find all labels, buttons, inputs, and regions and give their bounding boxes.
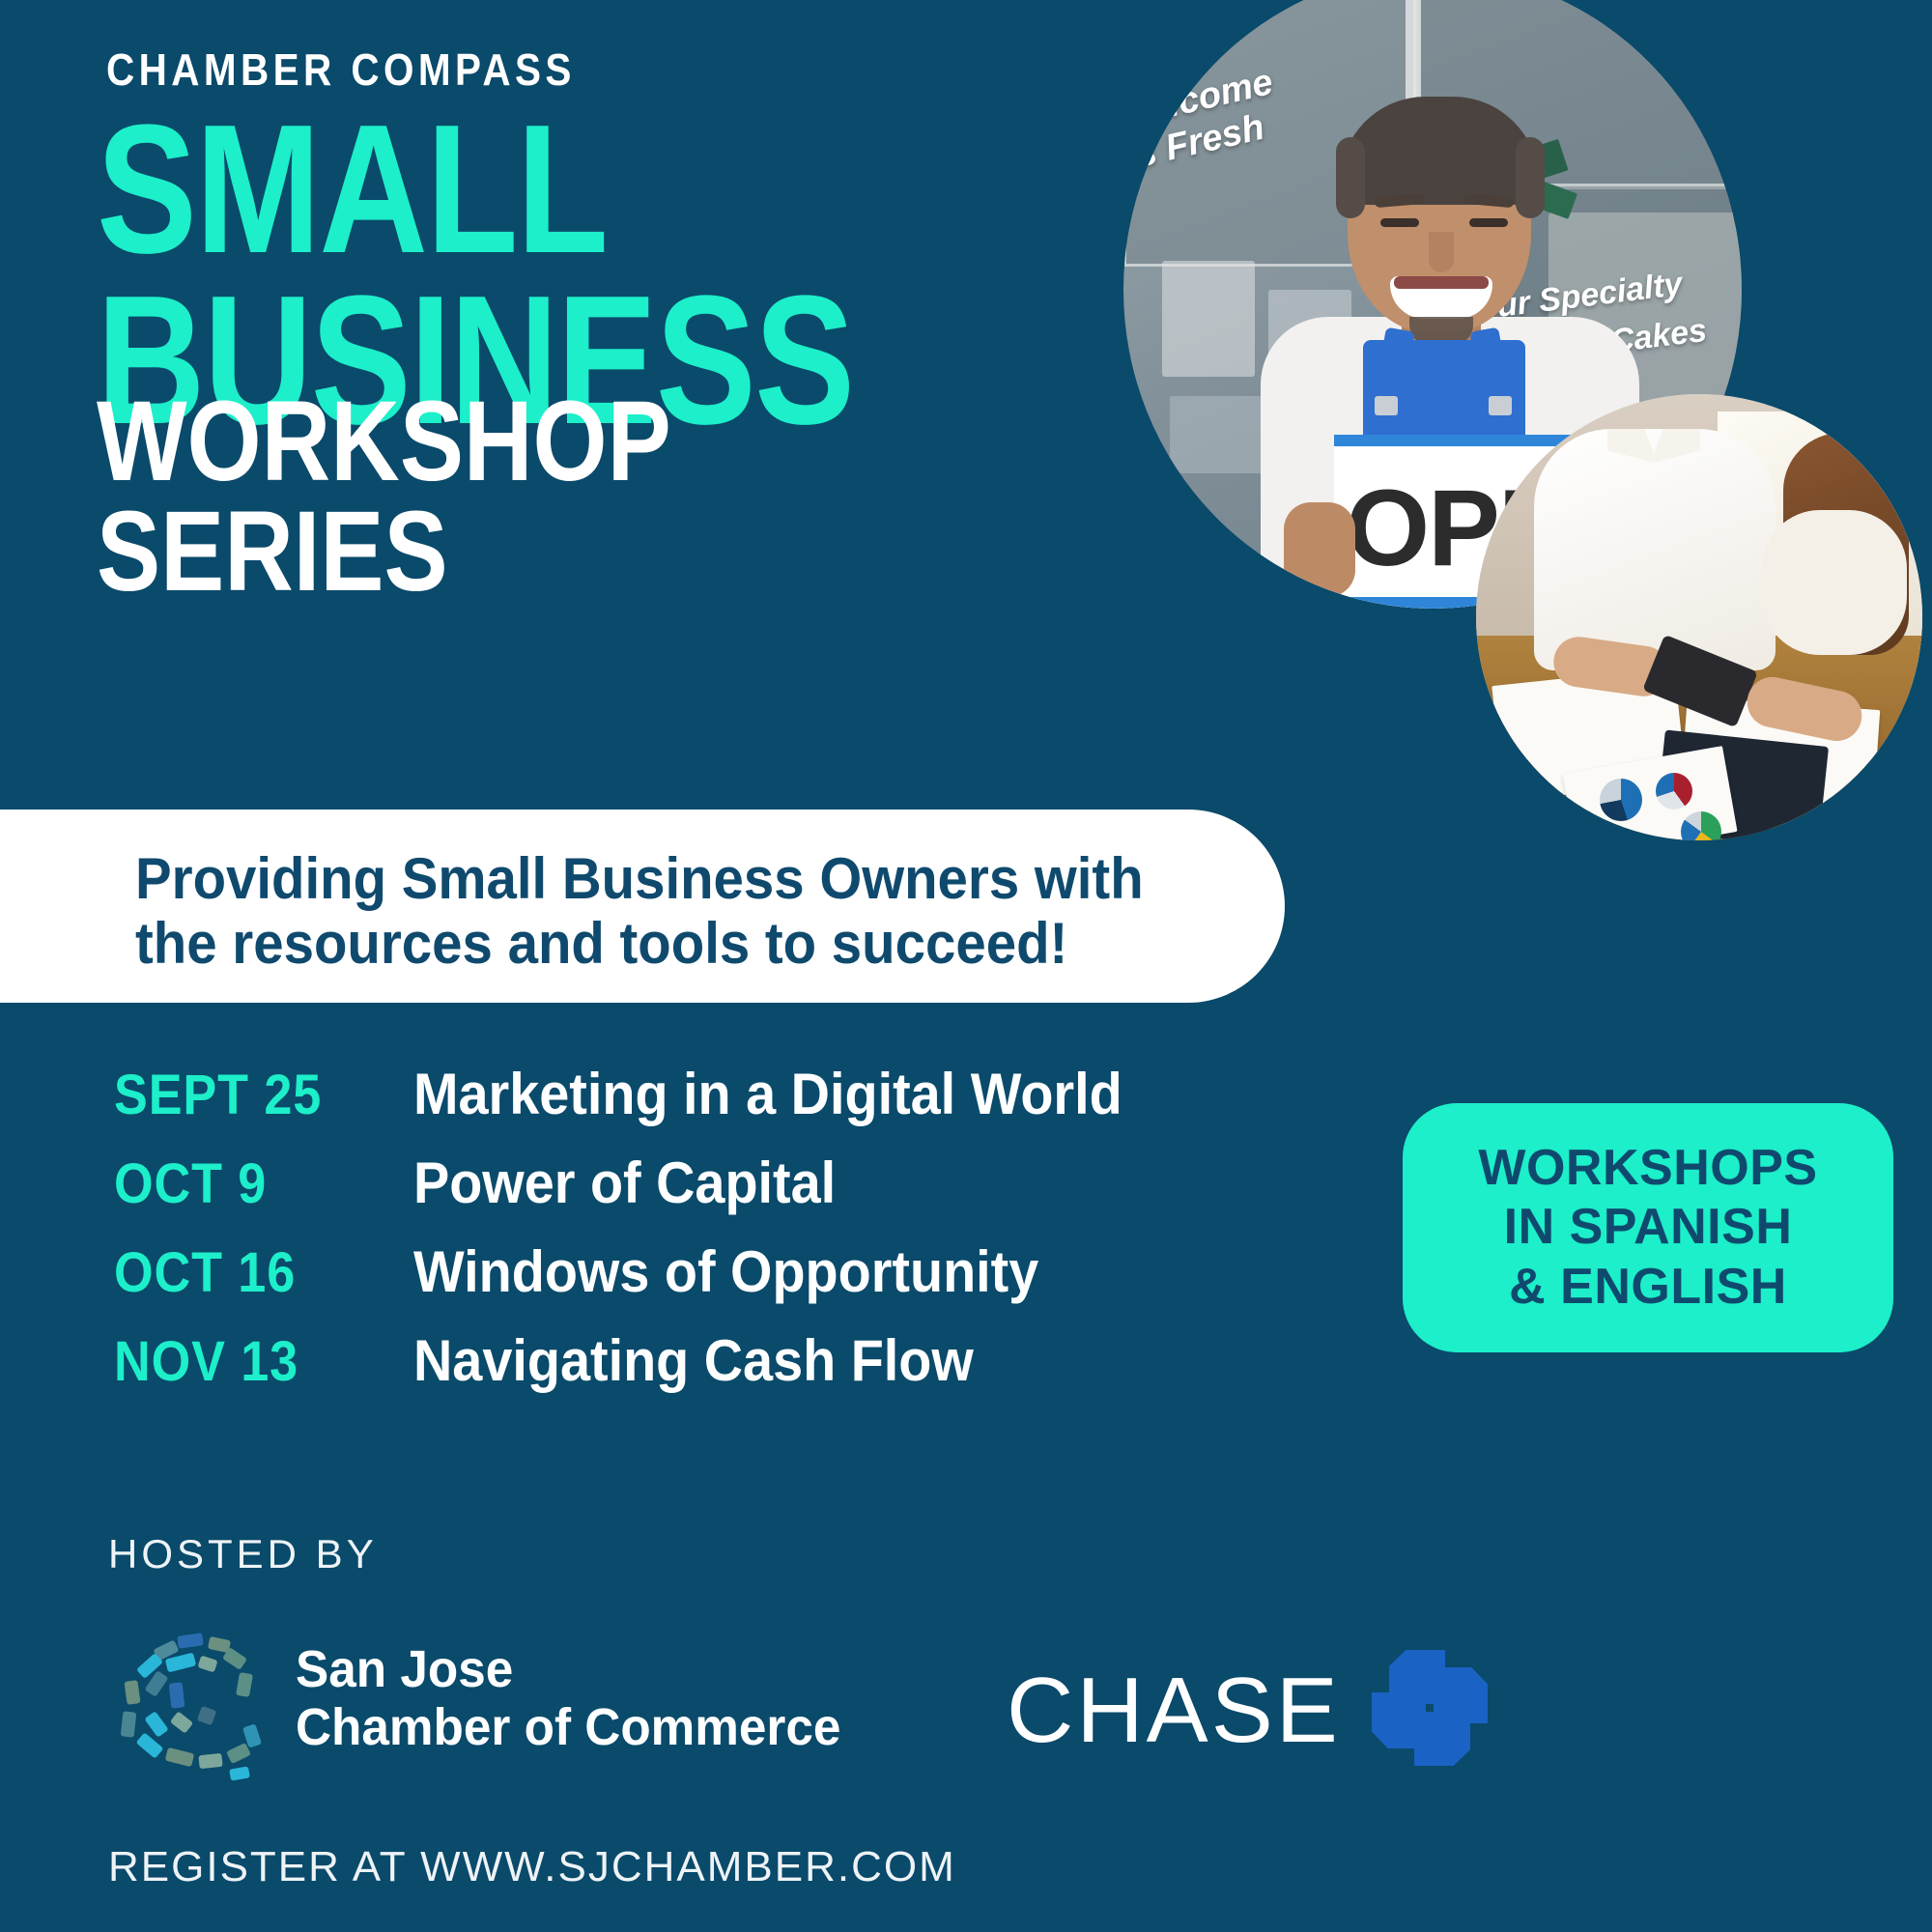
owner-mouth-line: [1394, 276, 1489, 289]
chamber-c-mark-icon: [116, 1631, 270, 1785]
apron-buckle: [1375, 396, 1398, 415]
tagline-text: Providing Small Business Owners with the…: [135, 846, 1144, 976]
owner-hair-side: [1336, 137, 1365, 218]
octagon-segment: [1372, 1692, 1426, 1748]
schedule-date: OCT 16: [114, 1240, 384, 1305]
schedule-date: SEPT 25: [114, 1063, 384, 1127]
pie-chart: [1600, 779, 1642, 821]
schedule-title: Marketing in a Digital World: [413, 1061, 1122, 1127]
schedule-date: OCT 9: [114, 1151, 384, 1216]
owner-eye: [1469, 218, 1508, 227]
owner-hand: [1284, 502, 1355, 597]
schedule-title: Power of Capital: [413, 1150, 836, 1216]
register-url[interactable]: REGISTER AT WWW.SJCHAMBER.COM: [108, 1843, 956, 1891]
language-badge: WORKSHOPS IN SPANISH & ENGLISH: [1403, 1103, 1893, 1352]
workshop-schedule: SEPT 25 Marketing in a Digital World OCT…: [114, 1061, 1176, 1416]
owner-nose: [1429, 232, 1454, 272]
schedule-row[interactable]: SEPT 25 Marketing in a Digital World: [114, 1061, 1176, 1150]
schedule-row[interactable]: OCT 9 Power of Capital: [114, 1150, 1176, 1238]
woman-shirt: [1534, 429, 1776, 670]
schedule-row[interactable]: NOV 13 Navigating Cash Flow: [114, 1327, 1176, 1416]
badge-line-3: & ENGLISH: [1509, 1258, 1787, 1317]
page-subtitle: WORKSHOP SERIES: [97, 386, 671, 608]
schedule-row[interactable]: OCT 16 Windows of Opportunity: [114, 1238, 1176, 1327]
chase-octagon-icon: [1372, 1650, 1488, 1766]
badge-line-1: WORKSHOPS: [1478, 1139, 1817, 1198]
schedule-title: Windows of Opportunity: [413, 1238, 1038, 1305]
schedule-title: Navigating Cash Flow: [413, 1327, 974, 1394]
chamber-wordmark: San Jose Chamber of Commerce: [296, 1640, 840, 1757]
chase-wordmark: CHASE: [1007, 1658, 1341, 1764]
hosted-by-label: HOSTED BY: [108, 1531, 378, 1577]
badge-line-2: IN SPANISH: [1504, 1198, 1793, 1257]
schedule-date: NOV 13: [114, 1329, 384, 1394]
flyer-canvas: Welcome ays Fresh Our Specialty Wedding …: [0, 0, 1932, 1932]
pie-chart: [1656, 773, 1692, 810]
owner-hair: [1340, 97, 1539, 205]
chase-logo: CHASE: [1007, 1650, 1509, 1776]
owner-eye: [1380, 218, 1419, 227]
owner-hair-side: [1516, 137, 1545, 218]
photo-finance-review: [1476, 394, 1922, 840]
woman-sleeve: [1762, 510, 1907, 655]
sj-chamber-logo: San Jose Chamber of Commerce: [116, 1631, 908, 1804]
